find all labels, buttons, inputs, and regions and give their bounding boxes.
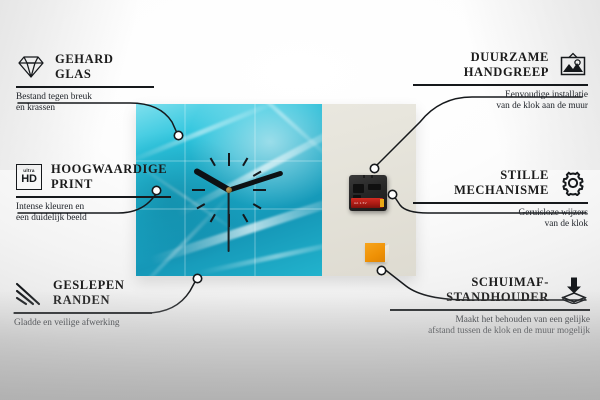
feature-rule [16,86,154,88]
feature-desc: Bestand tegen breuk en krassen [16,92,168,115]
feature-geslepen-randen: GESLEPEN RANDEN Gladde en veilige afwerk… [14,278,164,329]
connector-node [370,164,378,172]
feature-duurzame-handgreep: DUURZAME HANDGREEP Eenvoudige installati… [413,50,588,113]
feature-desc: Eenvoudige installatie van de klok aan d… [413,90,588,113]
gear-icon [558,170,588,196]
ultra-hd-icon: ultra HD [16,164,42,190]
feature-rule [16,196,171,198]
feature-rule [390,309,590,311]
foam-spacer-icon [558,276,590,304]
feature-title: GESLEPEN RANDEN [53,278,125,308]
feature-rule [14,312,152,314]
beveled-edges-icon [14,280,44,306]
feature-rule [413,84,588,86]
feature-desc: Geruisloze wijzers van de klok [413,208,588,231]
connector-node [174,131,182,139]
product-infographic: AA 1.5V [0,0,600,400]
connector-node [388,190,396,198]
feature-hoogwaardige-print: ultra HD HOOGWAARDIGE PRINT Intense kleu… [16,162,184,225]
feature-schuimafstandhouder: SCHUIMAF- STANDHOUDER Maakt het behouden… [390,275,590,338]
feature-desc: Gladde en veilige afwerking [14,318,164,330]
feature-title: STILLE MECHANISME [454,168,549,198]
connector-node [377,266,385,274]
diamond-icon [16,54,46,80]
feature-desc: Maakt het behouden van een gelijke afsta… [390,315,590,338]
feature-stille-mechanisme: STILLE MECHANISME Geruisloze wijzers van… [413,168,588,231]
feature-title: DUURZAME HANDGREEP [464,50,549,80]
feature-title: SCHUIMAF- STANDHOUDER [446,275,549,305]
feature-gehard-glas: GEHARD GLAS Bestand tegen breuk en krass… [16,52,168,115]
feature-title: GEHARD GLAS [55,52,113,82]
feature-desc: Intense kleuren en een duidelijk beeld [16,202,184,225]
feature-rule [413,202,588,204]
picture-frame-icon [558,52,588,78]
feature-title: HOOGWAARDIGE PRINT [51,162,167,192]
ultra-hd-icon-bottom: HD [21,174,37,185]
connector-node [193,274,201,282]
